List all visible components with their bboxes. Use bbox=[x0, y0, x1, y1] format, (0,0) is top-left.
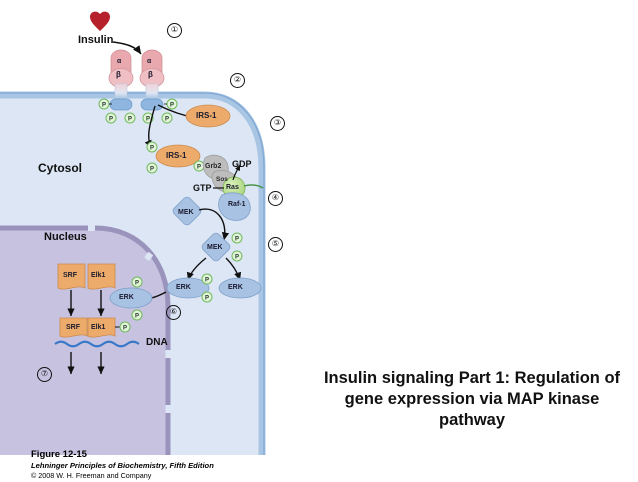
phosphate-circle: P bbox=[147, 142, 157, 152]
step-number-3: ③ bbox=[270, 116, 285, 131]
step-number-2: ② bbox=[230, 73, 245, 88]
phosphate-circle: P bbox=[132, 277, 142, 287]
protein-label-srf-free: SRF bbox=[63, 272, 77, 279]
protein-label-srf-bound: SRF bbox=[66, 324, 80, 331]
protein-label-grb2: Grb2 bbox=[205, 163, 221, 170]
nuclear-pore bbox=[166, 350, 172, 358]
protein-label-erk-inactive: ERK bbox=[228, 284, 243, 291]
svg-text:P: P bbox=[170, 102, 174, 108]
phosphate-circle: P bbox=[194, 161, 204, 171]
step-number-4: ④ bbox=[268, 191, 283, 206]
svg-text:P: P bbox=[109, 116, 113, 122]
phosphate-circle: P bbox=[99, 99, 109, 109]
insulin-molecule bbox=[90, 12, 110, 31]
svg-text:P: P bbox=[205, 277, 209, 283]
receptor-alpha-left-label: α bbox=[117, 58, 121, 65]
gtp-label: GTP bbox=[193, 184, 212, 193]
protein-label-erk-nuclear: ERK bbox=[119, 294, 134, 301]
svg-text:P: P bbox=[135, 280, 139, 286]
protein-label-irs1-bound: IRS-1 bbox=[166, 152, 186, 160]
svg-text:P: P bbox=[102, 102, 106, 108]
phosphate-circle: P bbox=[162, 113, 172, 123]
phosphate-circle: P bbox=[125, 113, 135, 123]
phosphate-circle: P bbox=[202, 274, 212, 284]
svg-text:P: P bbox=[128, 116, 132, 122]
svg-text:P: P bbox=[150, 145, 154, 151]
svg-text:P: P bbox=[150, 166, 154, 172]
svg-text:P: P bbox=[235, 236, 239, 242]
phosphate-circle: P bbox=[202, 292, 212, 302]
phosphate-circle: P bbox=[232, 233, 242, 243]
figure-copyright: © 2008 W. H. Freeman and Company bbox=[31, 471, 281, 481]
step-number-1: ① bbox=[167, 23, 182, 38]
protein-label-mek-active: MEK bbox=[207, 244, 223, 251]
protein-label-elk1-free: Elk1 bbox=[91, 272, 105, 279]
protein-label-raf1: Raf-1 bbox=[228, 201, 246, 208]
dna-label: DNA bbox=[146, 338, 168, 348]
protein-label-mek-inactive: MEK bbox=[178, 209, 194, 216]
receptor-kinase-right bbox=[141, 99, 163, 110]
protein-label-irs1-free: IRS-1 bbox=[196, 112, 216, 120]
figure-credit: Figure 12-15 Lehninger Principles of Bio… bbox=[31, 450, 281, 481]
protein-label-ras: Ras bbox=[226, 184, 239, 191]
nuclear-pore bbox=[166, 405, 172, 413]
protein-label-erk-active: ERK bbox=[176, 284, 191, 291]
svg-text:P: P bbox=[235, 254, 239, 260]
step-number-6: ⑥ bbox=[166, 305, 181, 320]
phosphate-circle: P bbox=[232, 251, 242, 261]
svg-text:P: P bbox=[197, 164, 201, 170]
figure-panel: P P P P P P P P P bbox=[0, 0, 300, 482]
receptor-alpha-right-label: α bbox=[147, 58, 151, 65]
insulin-label: Insulin bbox=[78, 35, 113, 46]
step-number-5: ⑤ bbox=[268, 237, 283, 252]
figure-number: Figure 12-15 bbox=[31, 450, 281, 461]
receptor-beta-right-label: β bbox=[148, 71, 153, 79]
receptor-kinase-left bbox=[110, 99, 132, 110]
slide-canvas: P P P P P P P P P bbox=[0, 0, 638, 482]
svg-text:P: P bbox=[205, 295, 209, 301]
svg-text:P: P bbox=[165, 116, 169, 122]
cytosol-label: Cytosol bbox=[38, 162, 82, 174]
phosphate-circle: P bbox=[147, 163, 157, 173]
step-number-7: ⑦ bbox=[37, 367, 52, 382]
gdp-label: GDP bbox=[232, 160, 252, 169]
phosphate-circle: P bbox=[167, 99, 177, 109]
phosphate-circle: P bbox=[132, 310, 142, 320]
slide-caption: Insulin signaling Part 1: Regulation of … bbox=[316, 368, 628, 430]
receptor-stalk-left bbox=[115, 84, 127, 100]
nucleus-label: Nucleus bbox=[44, 232, 87, 243]
nuclear-pore bbox=[88, 226, 95, 232]
svg-text:P: P bbox=[146, 116, 150, 122]
svg-text:P: P bbox=[135, 313, 139, 319]
phosphate-circle: P bbox=[106, 113, 116, 123]
protein-label-elk1-bound: Elk1 bbox=[91, 324, 105, 331]
receptor-beta-left-label: β bbox=[116, 71, 121, 79]
phosphate-circle: P bbox=[120, 322, 130, 332]
figure-source-book: Lehninger Principles of Biochemistry, Fi… bbox=[31, 461, 281, 471]
svg-text:P: P bbox=[123, 325, 127, 331]
receptor-stalk-right bbox=[146, 84, 158, 100]
protein-label-sos: Sos bbox=[216, 177, 228, 184]
